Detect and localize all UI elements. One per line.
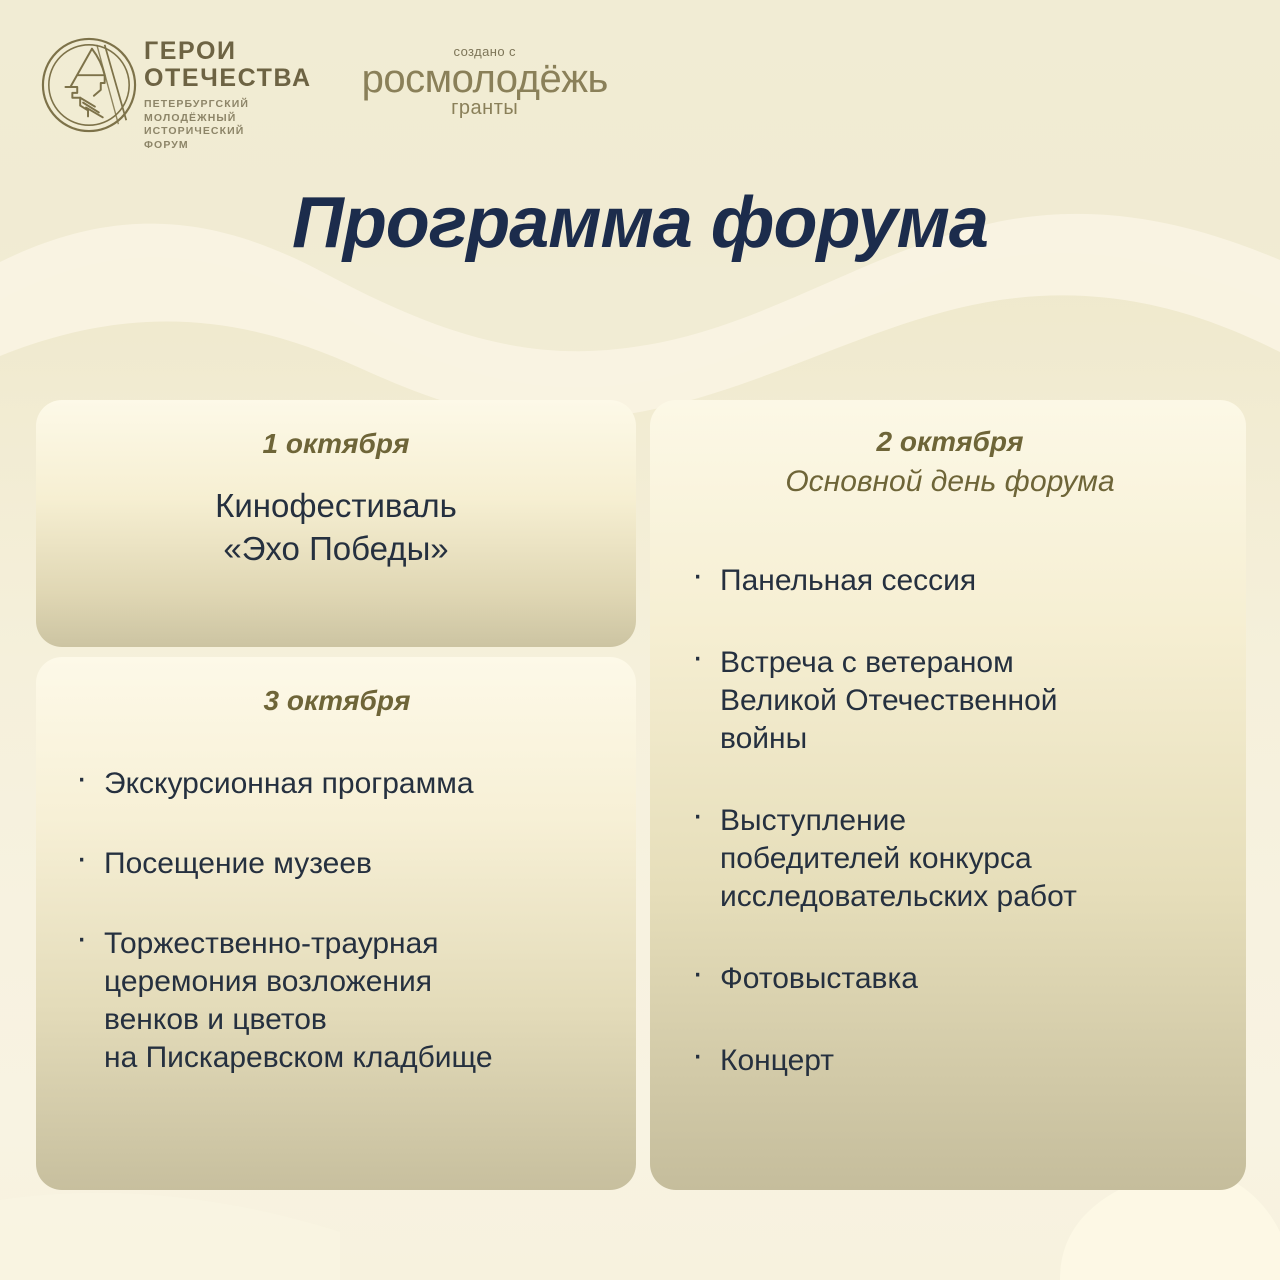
partner-name: росмолодёжь (362, 57, 608, 101)
card-day-2-subtitle: Основной день форума (684, 462, 1216, 502)
brand-text-block: ГЕРОИ ОТЕЧЕСТВА ПЕТЕРБУРГСКИЙ МОЛОДЁЖНЫЙ… (144, 34, 312, 152)
list-item-label: Экскурсионная программа (104, 767, 474, 800)
list-item-label: Встреча с ветераном Великой Отечественно… (720, 646, 1058, 755)
card-day-3-date: 3 октября (68, 681, 606, 721)
brand-subtitle-line3: ИСТОРИЧЕСКИЙ (144, 125, 312, 139)
list-item: Панельная сессия (684, 562, 1216, 600)
brand-subtitle-line2: МОЛОДЁЖНЫЙ (144, 112, 312, 126)
list-item: Посещение музеев (68, 845, 606, 883)
list-item: Встреча с ветераном Великой Отечественно… (684, 644, 1216, 758)
poster-canvas: ГЕРОИ ОТЕЧЕСТВА ПЕТЕРБУРГСКИЙ МОЛОДЁЖНЫЙ… (0, 0, 1280, 1280)
card-day-2-list: Панельная сессия Встреча с ветераном Вел… (684, 562, 1216, 1080)
card-day-1-headline: Кинофестиваль «Эхо Победы» (76, 484, 596, 570)
card-day-1-date: 1 октября (76, 424, 596, 464)
list-item-label: Панельная сессия (720, 564, 976, 597)
brand-subtitle-line1: ПЕТЕРБУРГСКИЙ (144, 98, 312, 112)
card-day-3: 3 октября Экскурсионная программа Посеще… (36, 657, 636, 1190)
page-title: Программа форума (0, 183, 1280, 263)
list-item-label: Торжественно-траурная церемония возложен… (104, 927, 493, 1074)
brand-title-line2: ОТЕЧЕСТВА (144, 65, 312, 92)
list-item-label: Концерт (720, 1044, 834, 1077)
list-item: Выступление победителей конкурса исследо… (684, 802, 1216, 916)
card-day-2-date: 2 октября (684, 422, 1216, 462)
list-item-label: Посещение музеев (104, 847, 372, 880)
soldier-profile-emblem-icon (40, 36, 138, 134)
list-item: Торжественно-траурная церемония возложен… (68, 925, 606, 1077)
list-item: Фотовыставка (684, 960, 1216, 998)
header-logos: ГЕРОИ ОТЕЧЕСТВА ПЕТЕРБУРГСКИЙ МОЛОДЁЖНЫЙ… (40, 34, 608, 152)
card-day-2: 2 октября Основной день форума Панельная… (650, 400, 1246, 1190)
partner-logo-rosmolodezh: создано с росмолодёжь гранты (362, 34, 608, 120)
card-day-3-list: Экскурсионная программа Посещение музеев… (68, 765, 606, 1077)
list-item: Концерт (684, 1042, 1216, 1080)
list-item-label: Фотовыставка (720, 962, 918, 995)
card-day-1: 1 октября Кинофестиваль «Эхо Победы» (36, 400, 636, 647)
brand-subtitle-line4: ФОРУМ (144, 139, 312, 153)
list-item: Экскурсионная программа (68, 765, 606, 803)
list-item-label: Выступление победителей конкурса исследо… (720, 804, 1077, 913)
brand-title-line1: ГЕРОИ (144, 38, 312, 65)
